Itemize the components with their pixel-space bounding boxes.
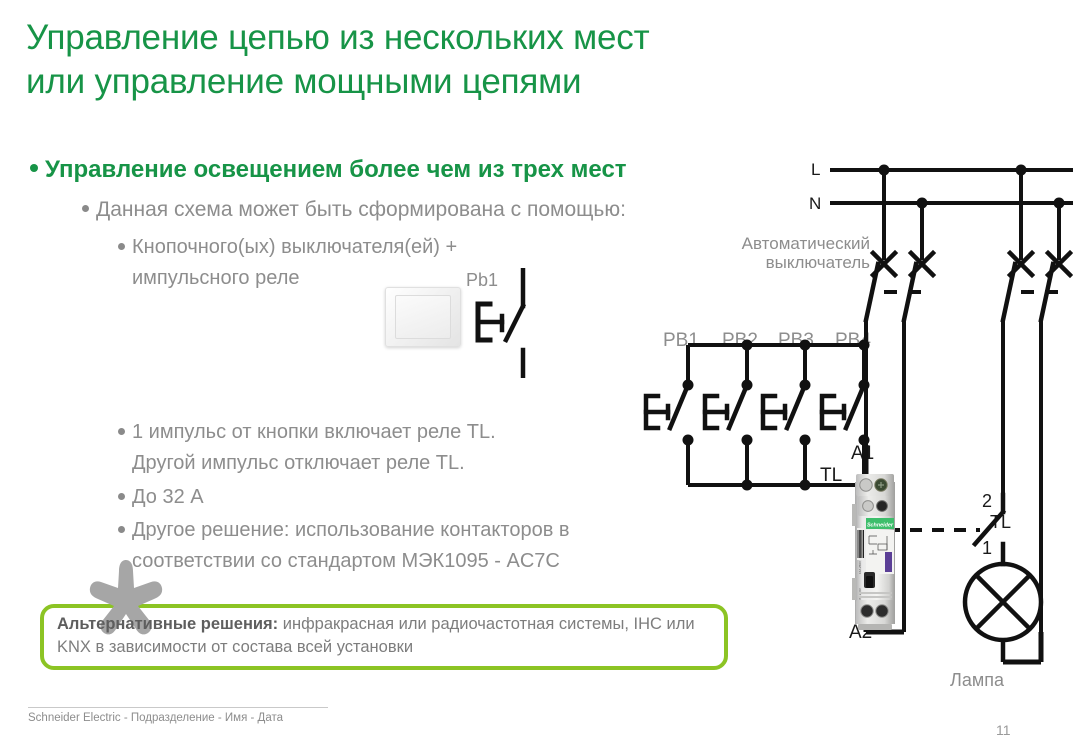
page-title: Управление цепью из нескольких мест или … bbox=[26, 16, 726, 104]
svg-text:16A 250V: 16A 250V bbox=[858, 561, 862, 574]
bullet-level3-pushbutton: Кнопочного(ых) выключателя(ей) + импульс… bbox=[118, 232, 457, 294]
bullet-level2: Данная схема может быть сформирована с п… bbox=[82, 196, 626, 223]
alternative-solutions-lead: Альтернативные решения: bbox=[57, 615, 278, 633]
pushbutton-bus-top bbox=[688, 345, 866, 385]
bullet-text: 1 импульс от кнопки включает реле TL. Др… bbox=[132, 417, 496, 479]
wall-switch-rocker bbox=[395, 295, 451, 339]
bullet-dot-icon bbox=[118, 493, 125, 500]
bullet-level3-current: До 32 A bbox=[118, 482, 204, 513]
footer-divider bbox=[28, 707, 328, 708]
bullet-dot-icon bbox=[118, 428, 125, 435]
impulse-relay-photo: Schneider 16A 250V iTL 230V bbox=[852, 474, 898, 632]
bullet-level3-pulse: 1 импульс от кнопки включает реле TL. Др… bbox=[118, 417, 496, 479]
bullet-text: Кнопочного(ых) выключателя(ей) + импульс… bbox=[132, 232, 457, 294]
bullet-level1: Управление освещением более чем из трех … bbox=[30, 155, 627, 185]
bullet-text: До 32 A bbox=[132, 482, 204, 513]
bullet-text: Другое решение: использование контакторо… bbox=[132, 515, 570, 577]
bullet-dot-icon bbox=[118, 243, 125, 250]
pushbutton-symbols bbox=[646, 385, 864, 428]
page-title-line-2: или управление мощными цепями bbox=[26, 60, 726, 104]
circuit-breaker-symbols bbox=[866, 253, 1070, 320]
bullet-level3-contactor: Другое решение: использование контакторо… bbox=[118, 515, 570, 577]
page-title-line-1: Управление цепью из нескольких мест bbox=[26, 16, 726, 60]
alternative-solutions-text: Альтернативные решения: инфракрасная или… bbox=[57, 613, 725, 659]
bullet-text: Данная схема может быть сформирована с п… bbox=[96, 196, 626, 223]
footer-text: Schneider Electric - Подразделение - Имя… bbox=[28, 712, 283, 724]
bullet-text: Управление освещением более чем из трех … bbox=[45, 155, 627, 185]
bullet-dot-icon bbox=[82, 205, 89, 212]
pushbutton-top-dots bbox=[683, 340, 870, 391]
svg-text:Schneider: Schneider bbox=[867, 522, 894, 528]
pushbutton-symbol-pb1 bbox=[462, 268, 552, 378]
bullet-dot-icon bbox=[118, 526, 125, 533]
svg-text:iTL 230V: iTL 230V bbox=[858, 588, 862, 600]
lamp-symbol bbox=[965, 564, 1041, 662]
pushbutton-bus-bottom bbox=[688, 440, 866, 485]
page-number: 11 bbox=[996, 722, 1011, 738]
bullet-dot-icon bbox=[30, 164, 38, 172]
pushbutton-bottom-dots bbox=[683, 435, 870, 491]
wall-switch-photo bbox=[385, 287, 461, 347]
